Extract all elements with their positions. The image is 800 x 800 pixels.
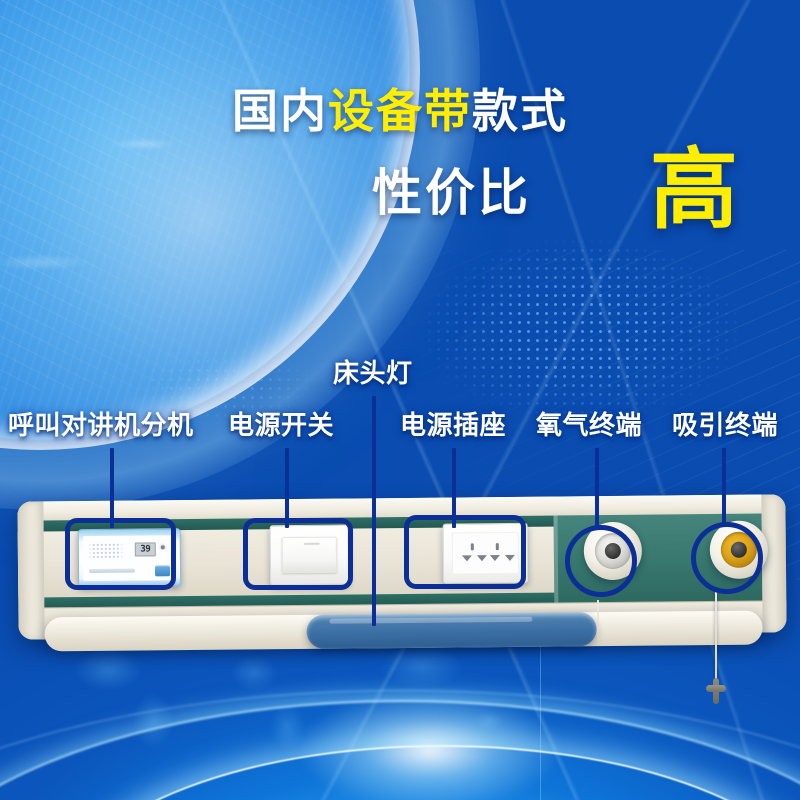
callout-box-intercom bbox=[65, 518, 176, 590]
callout-label-suction-terminal: 吸引终端 bbox=[672, 412, 778, 438]
callout-ring-oxygen bbox=[565, 525, 637, 597]
callout-label-power-socket: 电源插座 bbox=[400, 412, 506, 438]
leader-line-oxygen bbox=[595, 448, 599, 526]
leader-line-switch bbox=[285, 448, 289, 528]
callout-box-power-switch bbox=[243, 518, 353, 590]
callout-label-nurse-call-intercom: 呼叫对讲机分机 bbox=[8, 412, 194, 438]
callout-label-oxygen-terminal: 氧气终端 bbox=[536, 412, 642, 438]
callout-label-bed-head-lamp: 床头灯 bbox=[333, 360, 413, 386]
callout-ring-suction bbox=[691, 522, 763, 594]
leader-line-lamp bbox=[372, 396, 376, 626]
leader-line-suction bbox=[722, 448, 726, 526]
callout-labels: 呼叫对讲机分机 电源开关 床头灯 电源插座 氧气终端 吸引终端 bbox=[0, 0, 800, 800]
callout-box-power-socket bbox=[404, 515, 526, 589]
callout-label-power-switch: 电源开关 bbox=[228, 412, 334, 438]
promo-banner: 国内设备带款式 性价比 高 呼叫对讲机分机 电源开关 床头灯 电源插座 氧气终端… bbox=[0, 0, 800, 800]
leader-line-intercom bbox=[110, 448, 114, 528]
